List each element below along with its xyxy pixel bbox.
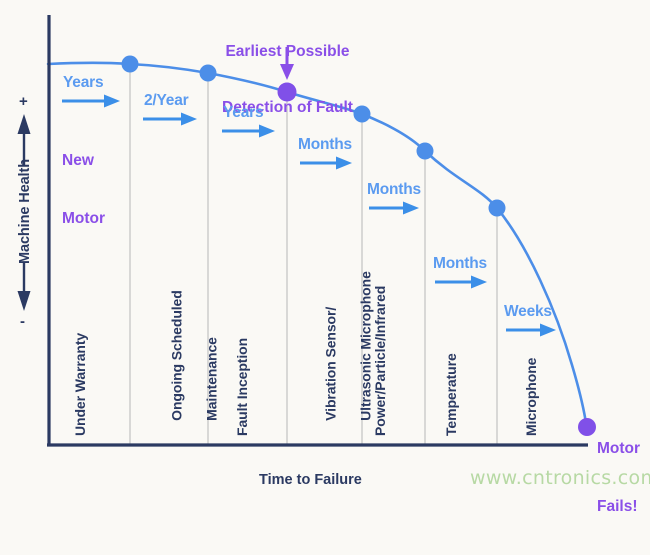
band-label-vibration-line1: Vibration Sensor/ — [323, 307, 339, 421]
motor-fails-annotation-line1: Motor — [597, 439, 650, 458]
y-axis-up-arrow — [18, 114, 31, 165]
marker-power-particle-infrared — [417, 143, 434, 160]
band-label-microphone: Microphone — [524, 306, 540, 436]
fault-detection-annotation: Earliest Possible Detection of Fault — [205, 6, 370, 155]
y-axis-title: Machine Health — [17, 168, 33, 264]
interval-label-years-2: Years — [223, 104, 263, 121]
y-axis-plus-sign: + — [19, 94, 28, 111]
arrow-months-3 — [435, 276, 487, 289]
y-axis-down-arrow — [18, 262, 31, 311]
new-motor-annotation: New Motor — [62, 112, 122, 267]
marker-motor-fails — [578, 418, 596, 436]
interval-label-years-1: Years — [63, 74, 103, 91]
motor-fails-annotation-line2: Fails! — [597, 497, 650, 516]
arrow-months-2 — [369, 202, 419, 215]
arrow-2-per-year — [143, 113, 197, 126]
band-label-under-warranty: Under Warranty — [73, 296, 89, 436]
marker-under-warranty — [122, 56, 139, 73]
band-label-power-particle-infrared: Power/Particle/Infrared — [373, 241, 389, 436]
chart-canvas: Earliest Possible Detection of Fault Yea… — [0, 0, 650, 498]
interval-label-months-3: Months — [433, 255, 487, 272]
interval-label-months-2: Months — [367, 181, 421, 198]
band-label-fault-inception: Fault Inception — [235, 296, 251, 436]
new-motor-annotation-line1: New — [62, 151, 122, 170]
fault-detection-annotation-line1: Earliest Possible — [205, 43, 370, 62]
interval-label-months-1: Months — [298, 136, 352, 153]
watermark: www.cntronics.com — [470, 468, 650, 489]
band-label-ongoing-line1: Ongoing Scheduled — [169, 290, 185, 421]
arrow-months-1 — [300, 157, 352, 170]
arrow-years-1 — [62, 95, 120, 108]
band-label-ongoing-scheduled-maintenance: Ongoing Scheduled Maintenance — [151, 261, 239, 436]
y-axis-minus-sign: - — [20, 314, 25, 331]
new-motor-annotation-line2: Motor — [62, 209, 122, 228]
x-axis-title: Time to Failure — [259, 472, 362, 488]
marker-temperature — [489, 200, 506, 217]
band-label-temperature: Temperature — [444, 301, 460, 436]
band-label-ongoing-line2: Maintenance — [204, 337, 220, 421]
interval-label-2-per-year: 2/Year — [144, 92, 188, 109]
